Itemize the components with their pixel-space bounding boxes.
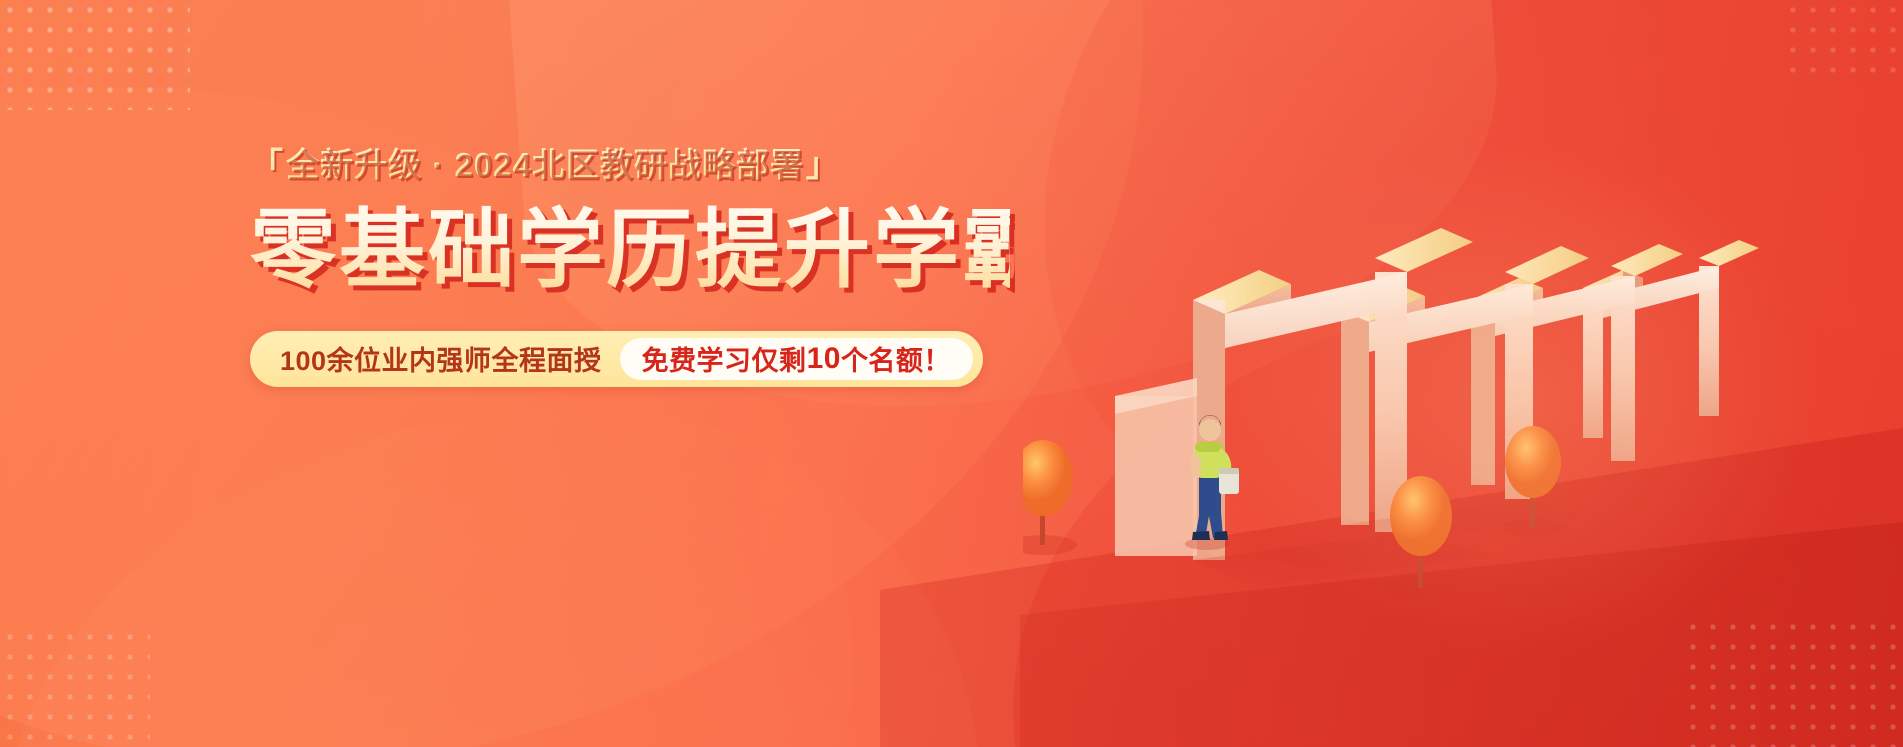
bracket-left: 「 [250,138,284,186]
dot-grid-top-left-icon [0,0,190,110]
seats-number: 10 [807,342,841,376]
banner-subtitle: 「 全新升级 · 2024北区教研战略部署 」 [250,140,1010,184]
dot-grid-bottom-left-icon [0,627,150,747]
banner-headline: 零基础学历提升学霸班 [250,204,1010,297]
arch-illustration [1023,0,1903,747]
tree-left [1023,440,1077,555]
tree-middle [1385,476,1457,598]
isometric-arches-svg [1023,0,1903,747]
subtitle-text: 全新升级 · 2024北区教研战略部署 [286,138,804,186]
pill-left-label: 100余位业内强师全程面授 [280,339,620,378]
promo-banner: 「 全新升级 · 2024北区教研战略部署 」 零基础学历提升学霸班 100余位… [0,0,1903,747]
seats-remaining-badge[interactable]: 免费学习仅剩10个名额！ [620,338,973,380]
arch-3 [1471,244,1683,485]
seats-suffix: 个名额！ [841,339,951,378]
feature-pill: 100余位业内强师全程面授 免费学习仅剩10个名额！ [250,331,983,387]
arch-4 [1583,240,1759,438]
seats-prefix: 免费学习仅剩 [642,339,807,378]
banner-text-block: 「 全新升级 · 2024北区教研战略部署 」 零基础学历提升学霸班 100余位… [250,140,1010,387]
bracket-right: 」 [806,138,840,186]
